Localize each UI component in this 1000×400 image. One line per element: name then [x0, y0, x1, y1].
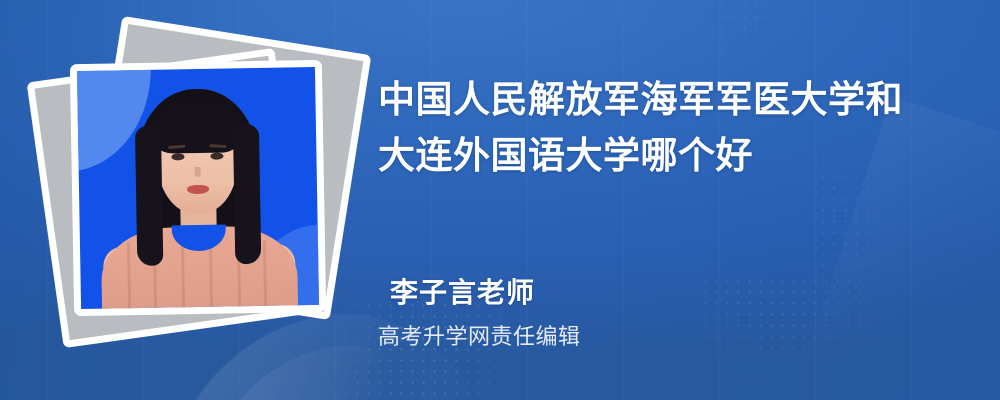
author-name: 李子言老师 [390, 271, 535, 311]
hair-fringe-shape [148, 100, 245, 154]
portrait-illustration [77, 67, 319, 309]
hair-side-left-shape [135, 126, 163, 266]
photo-card-stack-icon [52, 36, 342, 336]
banner-text-column: 中国人民解放军海军军医大学和大连外国语大学哪个好 李子言老师 高考升学网责任编辑 [378, 0, 968, 400]
hair-side-right-shape [233, 124, 261, 264]
nose-shape [195, 167, 201, 177]
author-role: 高考升学网责任编辑 [378, 319, 581, 351]
article-banner: 中国人民解放军海军军医大学和大连外国语大学哪个好 李子言老师 高考升学网责任编辑 [0, 0, 1000, 400]
page-title: 中国人民解放军海军军医大学和大连外国语大学哪个好 [378, 72, 938, 184]
portrait-photo-icon [70, 60, 326, 316]
